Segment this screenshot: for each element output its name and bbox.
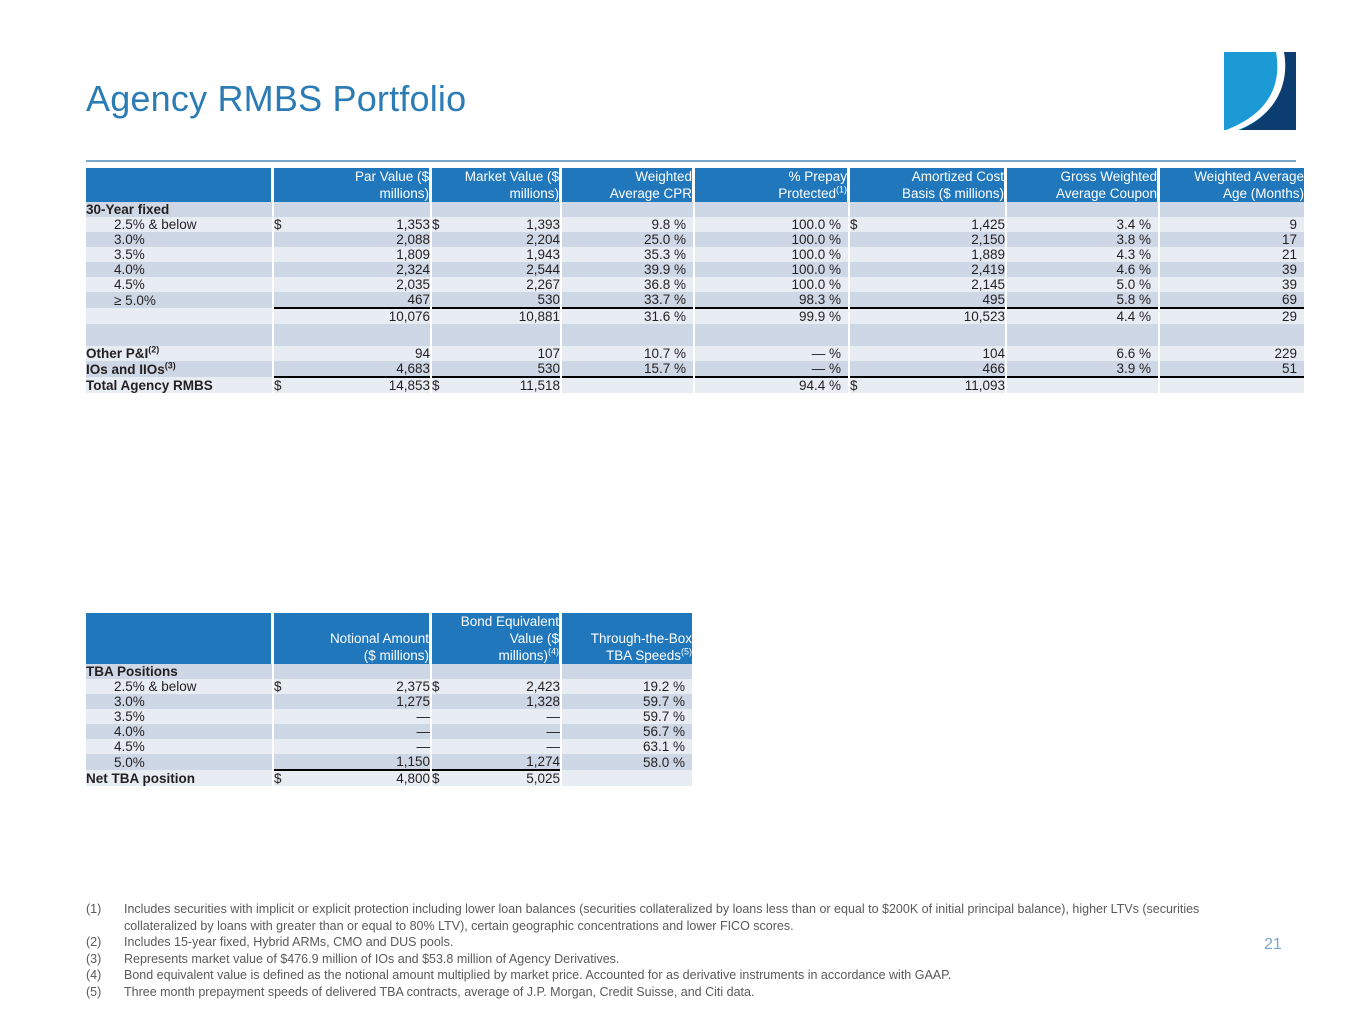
cell-market-value-currency [432, 361, 456, 377]
table-row: 3.5%——59.7 % [86, 709, 692, 724]
row-label: 30-Year fixed [86, 202, 272, 217]
cell-amortized-cost-currency [850, 277, 874, 292]
footnote-text: Bond equivalent value is defined as the … [124, 967, 1236, 984]
cell-par-value-currency: $ [274, 377, 298, 393]
cell-bond-equivalent-currency [432, 739, 456, 754]
cell-market-value-currency [432, 232, 456, 247]
cell-bond-equivalent-value: 2,423 [456, 679, 560, 694]
cell-amortized-cost: 2,150 [874, 232, 1005, 247]
table-row: Total Agency RMBS$14,853$11,51894.4 %$11… [86, 377, 1304, 393]
cell-weighted-average-age: 51 [1160, 361, 1304, 377]
table-row: 2.5% & below$2,375$2,42319.2 % [86, 679, 692, 694]
cell-amortized-cost-currency [850, 361, 874, 377]
cell-gross-weighted-average-coupon: 4.3 % [1007, 247, 1158, 262]
footnote-number: (2) [86, 934, 124, 951]
cell-amortized-cost: 1,889 [874, 247, 1005, 262]
cell-prepay-protected: 100.0 % [695, 217, 848, 232]
cell-amortized-cost-currency [850, 202, 874, 217]
footnote-text: Represents market value of $476.9 millio… [124, 951, 1236, 968]
cell-bond-equivalent-currency: $ [432, 679, 456, 694]
cell-market-value-currency [432, 324, 456, 346]
footnote-text: Three month prepayment speeds of deliver… [124, 984, 1236, 1001]
cell-par-value: 1,809 [298, 247, 430, 262]
cell-bond-equivalent-currency: $ [432, 770, 456, 786]
row-label: Other P&I(2) [86, 346, 272, 361]
cell-prepay-protected: 100.0 % [695, 247, 848, 262]
cell-market-value: 2,204 [456, 232, 560, 247]
company-logo [1224, 52, 1296, 130]
cell-par-value: 10,076 [298, 308, 430, 324]
cell-par-value [298, 202, 430, 217]
cell-notional-currency: $ [274, 770, 298, 786]
cell-tba-speed: 56.7 % [562, 724, 692, 739]
footnote-item: (2)Includes 15-year fixed, Hybrid ARMs, … [86, 934, 1236, 951]
cell-market-value-currency: $ [432, 377, 456, 393]
cell-bond-equivalent-value: — [456, 709, 560, 724]
col-header-prepay-protected: % PrepayProtected(1) [695, 168, 848, 202]
col-header-category [86, 168, 272, 202]
cell-bond-equivalent-currency [432, 709, 456, 724]
cell-weighted-average-cpr: 15.7 % [562, 361, 693, 377]
row-label: 2.5% & below [86, 679, 272, 694]
cell-par-value: 467 [298, 292, 430, 308]
cell-tba-speed: 59.7 % [562, 694, 692, 709]
cell-weighted-average-cpr: 39.9 % [562, 262, 693, 277]
cell-amortized-cost-currency [850, 232, 874, 247]
cell-par-value-currency [274, 262, 298, 277]
col-header-through-the-box-tba-speeds: Through-the-BoxTBA Speeds(5) [562, 613, 692, 664]
cell-prepay-protected [695, 324, 848, 346]
cell-market-value-currency: $ [432, 217, 456, 232]
cell-notional-amount: 1,275 [298, 694, 430, 709]
cell-notional-amount: 1,150 [298, 754, 430, 770]
row-label [86, 324, 272, 346]
cell-amortized-cost [874, 324, 1005, 346]
cell-prepay-protected: 100.0 % [695, 262, 848, 277]
row-label: 2.5% & below [86, 217, 272, 232]
cell-tba-speed: 63.1 % [562, 739, 692, 754]
cell-weighted-average-age: 9 [1160, 217, 1304, 232]
cell-par-value-currency [274, 202, 298, 217]
cell-market-value: 1,943 [456, 247, 560, 262]
col-header-notional-amount: Notional Amount($ millions) [274, 613, 430, 664]
cell-market-value-currency [432, 346, 456, 361]
tba-table-header-row: Notional Amount($ millions) Bond Equival… [86, 613, 692, 664]
cell-market-value-currency [432, 262, 456, 277]
cell-notional-currency [274, 739, 298, 754]
cell-tba-speed: 59.7 % [562, 709, 692, 724]
table-row: TBA Positions [86, 664, 692, 679]
cell-tba-speed: 19.2 % [562, 679, 692, 694]
cell-market-value-currency [432, 277, 456, 292]
agency-rmbs-table-body: 30-Year fixed2.5% & below$1,353$1,3939.8… [86, 202, 1304, 393]
cell-market-value: 107 [456, 346, 560, 361]
cell-par-value: 1,353 [298, 217, 430, 232]
table-row: 4.0%2,3242,54439.9 %100.0 %2,4194.6 %39 [86, 262, 1304, 277]
cell-bond-equivalent-currency [432, 724, 456, 739]
cell-par-value: 94 [298, 346, 430, 361]
cell-tba-speed [562, 664, 692, 679]
cell-bond-equivalent-currency [432, 754, 456, 770]
cell-par-value: 2,324 [298, 262, 430, 277]
cell-gross-weighted-average-coupon [1007, 202, 1158, 217]
cell-par-value-currency [274, 346, 298, 361]
cell-par-value: 14,853 [298, 377, 430, 393]
row-label: 3.0% [86, 694, 272, 709]
col-header-weighted-average-age: Weighted AverageAge (Months) [1160, 168, 1304, 202]
cell-amortized-cost-currency [850, 247, 874, 262]
cell-gross-weighted-average-coupon: 4.4 % [1007, 308, 1158, 324]
cell-market-value: 530 [456, 292, 560, 308]
col-header-weighted-average-cpr: WeightedAverage CPR [562, 168, 693, 202]
cell-par-value: 4,683 [298, 361, 430, 377]
row-label: 3.0% [86, 232, 272, 247]
cell-prepay-protected: — % [695, 361, 848, 377]
cell-weighted-average-age: 21 [1160, 247, 1304, 262]
page-number: 21 [1264, 936, 1282, 954]
cell-amortized-cost-currency: $ [850, 217, 874, 232]
cell-weighted-average-cpr: 25.0 % [562, 232, 693, 247]
cell-amortized-cost: 10,523 [874, 308, 1005, 324]
cell-weighted-average-age [1160, 324, 1304, 346]
footnote-item: (1)Includes securities with implicit or … [86, 901, 1236, 934]
cell-notional-amount: — [298, 739, 430, 754]
cell-bond-equivalent-currency [432, 694, 456, 709]
tba-positions-table-body: TBA Positions2.5% & below$2,375$2,42319.… [86, 664, 692, 786]
cell-weighted-average-cpr [562, 202, 693, 217]
row-label: 4.0% [86, 262, 272, 277]
cell-market-value: 2,267 [456, 277, 560, 292]
table-row: 2.5% & below$1,353$1,3939.8 %100.0 %$1,4… [86, 217, 1304, 232]
cell-market-value: 530 [456, 361, 560, 377]
footnote-item: (3)Represents market value of $476.9 mil… [86, 951, 1236, 968]
page-title: Agency RMBS Portfolio [86, 78, 466, 120]
table-row: 4.5%2,0352,26736.8 %100.0 %2,1455.0 %39 [86, 277, 1304, 292]
footnote-number: (5) [86, 984, 124, 1001]
table-row: 3.5%1,8091,94335.3 %100.0 %1,8894.3 %21 [86, 247, 1304, 262]
footnote-number: (4) [86, 967, 124, 984]
cell-market-value [456, 324, 560, 346]
cell-market-value: 2,544 [456, 262, 560, 277]
cell-prepay-protected: 94.4 % [695, 377, 848, 393]
cell-weighted-average-cpr: 36.8 % [562, 277, 693, 292]
cell-weighted-average-age: 39 [1160, 277, 1304, 292]
cell-market-value-currency [432, 292, 456, 308]
cell-notional-amount: 4,800 [298, 770, 430, 786]
cell-bond-equivalent-currency [432, 664, 456, 679]
cell-weighted-average-cpr [562, 324, 693, 346]
table-row: ≥ 5.0%46753033.7 %98.3 %4955.8 %69 [86, 292, 1304, 308]
row-label: 4.5% [86, 739, 272, 754]
cell-weighted-average-age [1160, 377, 1304, 393]
col-header-tba-category [86, 613, 272, 664]
cell-amortized-cost-currency: $ [850, 377, 874, 393]
cell-tba-speed: 58.0 % [562, 754, 692, 770]
cell-weighted-average-age: 29 [1160, 308, 1304, 324]
cell-gross-weighted-average-coupon: 3.9 % [1007, 361, 1158, 377]
cell-par-value [298, 324, 430, 346]
cell-notional-amount: — [298, 709, 430, 724]
footnote-item: (5)Three month prepayment speeds of deli… [86, 984, 1236, 1001]
cell-weighted-average-age [1160, 202, 1304, 217]
cell-weighted-average-cpr [562, 377, 693, 393]
title-divider [86, 160, 1296, 162]
cell-notional-currency [274, 694, 298, 709]
cell-bond-equivalent-value: — [456, 739, 560, 754]
footnote-text: Includes securities with implicit or exp… [124, 901, 1236, 934]
table-row: 3.0%2,0882,20425.0 %100.0 %2,1503.8 %17 [86, 232, 1304, 247]
table-row: 4.0%——56.7 % [86, 724, 692, 739]
cell-market-value: 11,518 [456, 377, 560, 393]
cell-amortized-cost-currency [850, 292, 874, 308]
cell-weighted-average-cpr: 35.3 % [562, 247, 693, 262]
table-row: 4.5%——63.1 % [86, 739, 692, 754]
cell-weighted-average-age: 229 [1160, 346, 1304, 361]
cell-amortized-cost: 1,425 [874, 217, 1005, 232]
col-header-par-value: Par Value ($millions) [274, 168, 430, 202]
row-label: 4.5% [86, 277, 272, 292]
cell-prepay-protected: 100.0 % [695, 232, 848, 247]
cell-par-value: 2,088 [298, 232, 430, 247]
cell-par-value-currency [274, 361, 298, 377]
row-label: 3.5% [86, 247, 272, 262]
cell-gross-weighted-average-coupon: 3.4 % [1007, 217, 1158, 232]
cell-amortized-cost-currency [850, 346, 874, 361]
row-label: 4.0% [86, 724, 272, 739]
cell-gross-weighted-average-coupon: 3.8 % [1007, 232, 1158, 247]
cell-gross-weighted-average-coupon: 5.0 % [1007, 277, 1158, 292]
cell-notional-currency: $ [274, 679, 298, 694]
cell-prepay-protected: 99.9 % [695, 308, 848, 324]
cell-market-value: 1,393 [456, 217, 560, 232]
col-header-bond-equivalent-value: Bond EquivalentValue ($millions)(4) [432, 613, 560, 664]
footnote-number: (1) [86, 901, 124, 918]
cell-prepay-protected [695, 202, 848, 217]
cell-gross-weighted-average-coupon: 4.6 % [1007, 262, 1158, 277]
cell-amortized-cost: 2,419 [874, 262, 1005, 277]
cell-prepay-protected: 100.0 % [695, 277, 848, 292]
cell-market-value [456, 202, 560, 217]
cell-market-value-currency [432, 247, 456, 262]
cell-notional-amount: 2,375 [298, 679, 430, 694]
cell-weighted-average-age: 39 [1160, 262, 1304, 277]
cell-amortized-cost-currency [850, 262, 874, 277]
row-label: 5.0% [86, 754, 272, 770]
cell-weighted-average-cpr: 10.7 % [562, 346, 693, 361]
row-label: Total Agency RMBS [86, 377, 272, 393]
cell-bond-equivalent-value: 1,328 [456, 694, 560, 709]
table-row: 10,07610,88131.6 %99.9 %10,5234.4 %29 [86, 308, 1304, 324]
footnotes: (1)Includes securities with implicit or … [86, 901, 1236, 1000]
cell-amortized-cost [874, 202, 1005, 217]
cell-weighted-average-cpr: 9.8 % [562, 217, 693, 232]
cell-prepay-protected: — % [695, 346, 848, 361]
tba-positions-table: Notional Amount($ millions) Bond Equival… [86, 613, 692, 786]
cell-amortized-cost: 495 [874, 292, 1005, 308]
cell-gross-weighted-average-coupon: 6.6 % [1007, 346, 1158, 361]
cell-par-value-currency: $ [274, 217, 298, 232]
row-label: IOs and IIOs(3) [86, 361, 272, 377]
cell-notional-currency [274, 709, 298, 724]
cell-weighted-average-cpr: 31.6 % [562, 308, 693, 324]
row-label: TBA Positions [86, 664, 272, 679]
cell-prepay-protected: 98.3 % [695, 292, 848, 308]
cell-amortized-cost-currency [850, 308, 874, 324]
col-header-market-value: Market Value ($millions) [432, 168, 560, 202]
row-label: ≥ 5.0% [86, 292, 272, 308]
table-row: Net TBA position$4,800$5,025 [86, 770, 692, 786]
cell-gross-weighted-average-coupon [1007, 324, 1158, 346]
cell-market-value-currency [432, 202, 456, 217]
cell-bond-equivalent-value: 1,274 [456, 754, 560, 770]
cell-notional-currency [274, 754, 298, 770]
cell-notional-amount: — [298, 724, 430, 739]
col-header-amortized-cost-basis: Amortized CostBasis ($ millions) [850, 168, 1005, 202]
cell-bond-equivalent-value: — [456, 724, 560, 739]
cell-gross-weighted-average-coupon [1007, 377, 1158, 393]
cell-weighted-average-age: 17 [1160, 232, 1304, 247]
cell-par-value: 2,035 [298, 277, 430, 292]
cell-par-value-currency [274, 277, 298, 292]
table-row: IOs and IIOs(3)4,68353015.7 %— %4663.9 %… [86, 361, 1304, 377]
cell-bond-equivalent-value: 5,025 [456, 770, 560, 786]
cell-amortized-cost: 104 [874, 346, 1005, 361]
cell-amortized-cost-currency [850, 324, 874, 346]
cell-notional-currency [274, 724, 298, 739]
cell-par-value-currency [274, 232, 298, 247]
table-row: Other P&I(2)9410710.7 %— %1046.6 %229 [86, 346, 1304, 361]
cell-par-value-currency [274, 324, 298, 346]
cell-par-value-currency [274, 308, 298, 324]
row-label: Net TBA position [86, 770, 272, 786]
footnote-text: Includes 15-year fixed, Hybrid ARMs, CMO… [124, 934, 1236, 951]
col-header-gross-weighted-average-coupon: Gross WeightedAverage Coupon [1007, 168, 1158, 202]
cell-bond-equivalent-value [456, 664, 560, 679]
cell-notional-amount [298, 664, 430, 679]
cell-market-value-currency [432, 308, 456, 324]
cell-gross-weighted-average-coupon: 5.8 % [1007, 292, 1158, 308]
cell-amortized-cost: 2,145 [874, 277, 1005, 292]
cell-par-value-currency [274, 247, 298, 262]
table-row: 5.0%1,1501,27458.0 % [86, 754, 692, 770]
cell-weighted-average-age: 69 [1160, 292, 1304, 308]
footnote-number: (3) [86, 951, 124, 968]
table-row [86, 324, 1304, 346]
agency-rmbs-table: Par Value ($millions) Market Value ($mil… [86, 168, 1304, 393]
row-label: 3.5% [86, 709, 272, 724]
row-label [86, 308, 272, 324]
table-row: 30-Year fixed [86, 202, 1304, 217]
footnote-item: (4)Bond equivalent value is defined as t… [86, 967, 1236, 984]
cell-amortized-cost: 466 [874, 361, 1005, 377]
table-row: 3.0%1,2751,32859.7 % [86, 694, 692, 709]
cell-notional-currency [274, 664, 298, 679]
cell-par-value-currency [274, 292, 298, 308]
cell-market-value: 10,881 [456, 308, 560, 324]
cell-weighted-average-cpr: 33.7 % [562, 292, 693, 308]
cell-amortized-cost: 11,093 [874, 377, 1005, 393]
table-header-row: Par Value ($millions) Market Value ($mil… [86, 168, 1304, 202]
cell-tba-speed [562, 770, 692, 786]
